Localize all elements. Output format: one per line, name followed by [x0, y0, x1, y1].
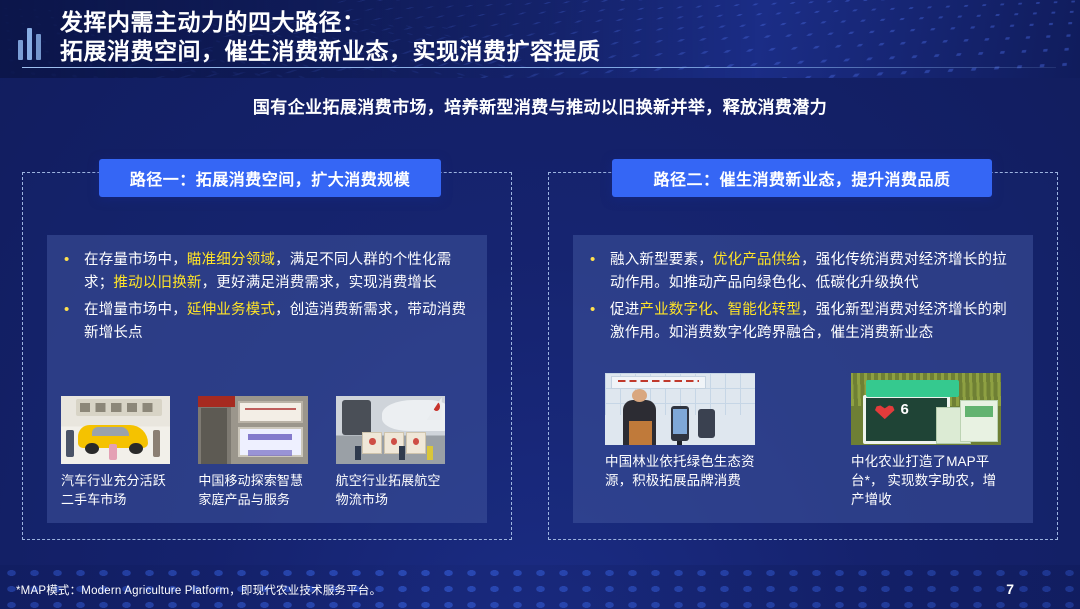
figure-caption: 航空行业拓展航空 物流市场 — [336, 471, 445, 509]
title-divider — [22, 67, 1056, 68]
map-rice-field-sign-photo: 6 — [851, 373, 1001, 445]
figure-caption: 中国林业依托绿色生态资 源，积极拓展品牌消费 — [605, 452, 755, 490]
bullet-text: 促进产业数字化、智能化转型，强化新型消费对经济增长的刺激作用。如消费数字化跨界融… — [610, 299, 1019, 345]
bullet-marker: • — [587, 299, 610, 321]
bullet-text: 在存量市场中，瞄准细分领域，满足不同人群的个性化需求；推动以旧换新，更好满足消费… — [84, 249, 473, 295]
bullet-item: • 促进产业数字化、智能化转型，强化新型消费对经济增长的刺激作用。如消费数字化跨… — [587, 299, 1019, 345]
bullet-item: • 融入新型要素，优化产品供给，强化传统消费对经济增长的拉动作用。如推动产品向绿… — [587, 249, 1019, 295]
figure-smart-community: 中国移动探索智慧 家庭产品与服务 — [198, 396, 307, 509]
bullet-marker: • — [61, 299, 84, 321]
panel-two-figure-row: 中国林业依托绿色生态资 源，积极拓展品牌消费 6 中化农业打造了MAP平台*， … — [587, 373, 1019, 509]
figure-caption: 中化农业打造了MAP平台*， 实现数字助农，增产增收 — [851, 452, 1001, 509]
slide: 发挥内需主动力的四大路径： 拓展消费空间，催生消费新业态，实现消费扩容提质 国有… — [0, 0, 1080, 609]
bullet-item: • 在增量市场中，延伸业务模式，创造消费新需求，带动消费新增长点 — [61, 299, 473, 345]
panel-one-figure-row: 汽车行业充分活跃 二手车市场 中国移动探索智慧 家庭产品与服务 航空行 — [61, 396, 473, 509]
bullet-item: • 在存量市场中，瞄准细分领域，满足不同人群的个性化需求；推动以旧换新，更好满足… — [61, 249, 473, 295]
slide-subtitle: 国有企业拓展消费市场，培养新型消费与推动以旧换新并举，释放消费潜力 — [0, 93, 1080, 118]
panel-two-bullet-list: • 融入新型要素，优化产品供给，强化传统消费对经济增长的拉动作用。如推动产品向绿… — [573, 235, 1033, 345]
air-cargo-loading-photo — [336, 396, 445, 464]
page-title: 发挥内需主动力的四大路径： 拓展消费空间，催生消费新业态，实现消费扩容提质 — [60, 8, 1020, 66]
figure-livestream: 中国林业依托绿色生态资 源，积极拓展品牌消费 — [605, 373, 755, 509]
panel-one-bullet-list: • 在存量市场中，瞄准细分领域，满足不同人群的个性化需求；推动以旧换新，更好满足… — [47, 235, 487, 345]
figure-car: 汽车行业充分活跃 二手车市场 — [61, 396, 170, 509]
panel-one-body: • 在存量市场中，瞄准细分领域，满足不同人群的个性化需求；推动以旧换新，更好满足… — [47, 235, 487, 523]
panel-path-one: 路径一：拓展消费空间，扩大消费规模 • 在存量市场中，瞄准细分领域，满足不同人群… — [22, 172, 512, 540]
bullet-marker: • — [61, 249, 84, 271]
page-number: 7 — [1006, 581, 1014, 597]
smart-community-display-photo — [198, 396, 307, 464]
bullet-text: 在增量市场中，延伸业务模式，创造消费新需求，带动消费新增长点 — [84, 299, 473, 345]
panel-path-two: 路径二：催生消费新业态，提升消费品质 • 融入新型要素，优化产品供给，强化传统消… — [548, 172, 1058, 540]
figure-map-platform: 6 中化农业打造了MAP平台*， 实现数字助农，增产增收 — [851, 373, 1001, 509]
bullet-marker: • — [587, 249, 610, 271]
yellow-car-photo — [61, 396, 170, 464]
panel-one-title: 路径一：拓展消费空间，扩大消费规模 — [99, 159, 441, 197]
bar-chart-icon — [18, 20, 50, 60]
figure-air-cargo: 航空行业拓展航空 物流市场 — [336, 396, 445, 509]
panel-two-title: 路径二：催生消费新业态，提升消费品质 — [612, 159, 992, 197]
panel-two-body: • 融入新型要素，优化产品供给，强化传统消费对经济增长的拉动作用。如推动产品向绿… — [573, 235, 1033, 523]
livestream-selling-photo — [605, 373, 755, 445]
bullet-text: 融入新型要素，优化产品供给，强化传统消费对经济增长的拉动作用。如推动产品向绿色化… — [610, 249, 1019, 295]
figure-caption: 中国移动探索智慧 家庭产品与服务 — [198, 471, 307, 509]
figure-caption: 汽车行业充分活跃 二手车市场 — [61, 471, 170, 509]
footnote: *MAP模式：Modern Agriculture Platform，即现代农业… — [16, 582, 381, 598]
